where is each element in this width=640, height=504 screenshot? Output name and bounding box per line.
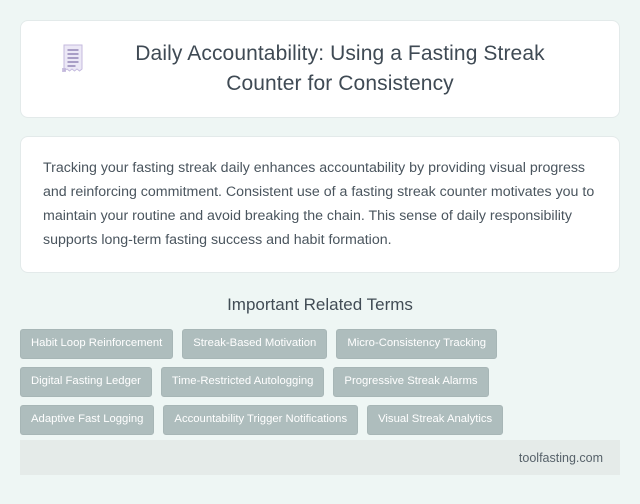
related-term-tag[interactable]: Time-Restricted Autologging (161, 367, 325, 397)
related-term-tag[interactable]: Streak-Based Motivation (182, 329, 327, 359)
page-root: Daily Accountability: Using a Fasting St… (0, 0, 640, 504)
related-term-tag[interactable]: Visual Streak Analytics (367, 405, 503, 435)
summary-paragraph: Tracking your fasting streak daily enhan… (43, 156, 597, 252)
summary-card: Tracking your fasting streak daily enhan… (20, 136, 620, 273)
title-card: Daily Accountability: Using a Fasting St… (20, 20, 620, 118)
related-term-tag[interactable]: Habit Loop Reinforcement (20, 329, 173, 359)
related-terms-heading: Important Related Terms (20, 293, 620, 317)
related-term-tag[interactable]: Micro-Consistency Tracking (336, 329, 497, 359)
related-term-tag[interactable]: Accountability Trigger Notifications (163, 405, 358, 435)
title-row: Daily Accountability: Using a Fasting St… (60, 39, 580, 99)
related-term-tag[interactable]: Adaptive Fast Logging (20, 405, 154, 435)
footer-domain: toolfasting.com (519, 450, 603, 466)
footer-bar: toolfasting.com (20, 440, 620, 475)
receipt-icon (60, 44, 86, 74)
related-term-tag[interactable]: Digital Fasting Ledger (20, 367, 152, 397)
page-title: Daily Accountability: Using a Fasting St… (100, 39, 580, 99)
related-term-tag[interactable]: Progressive Streak Alarms (333, 367, 488, 397)
